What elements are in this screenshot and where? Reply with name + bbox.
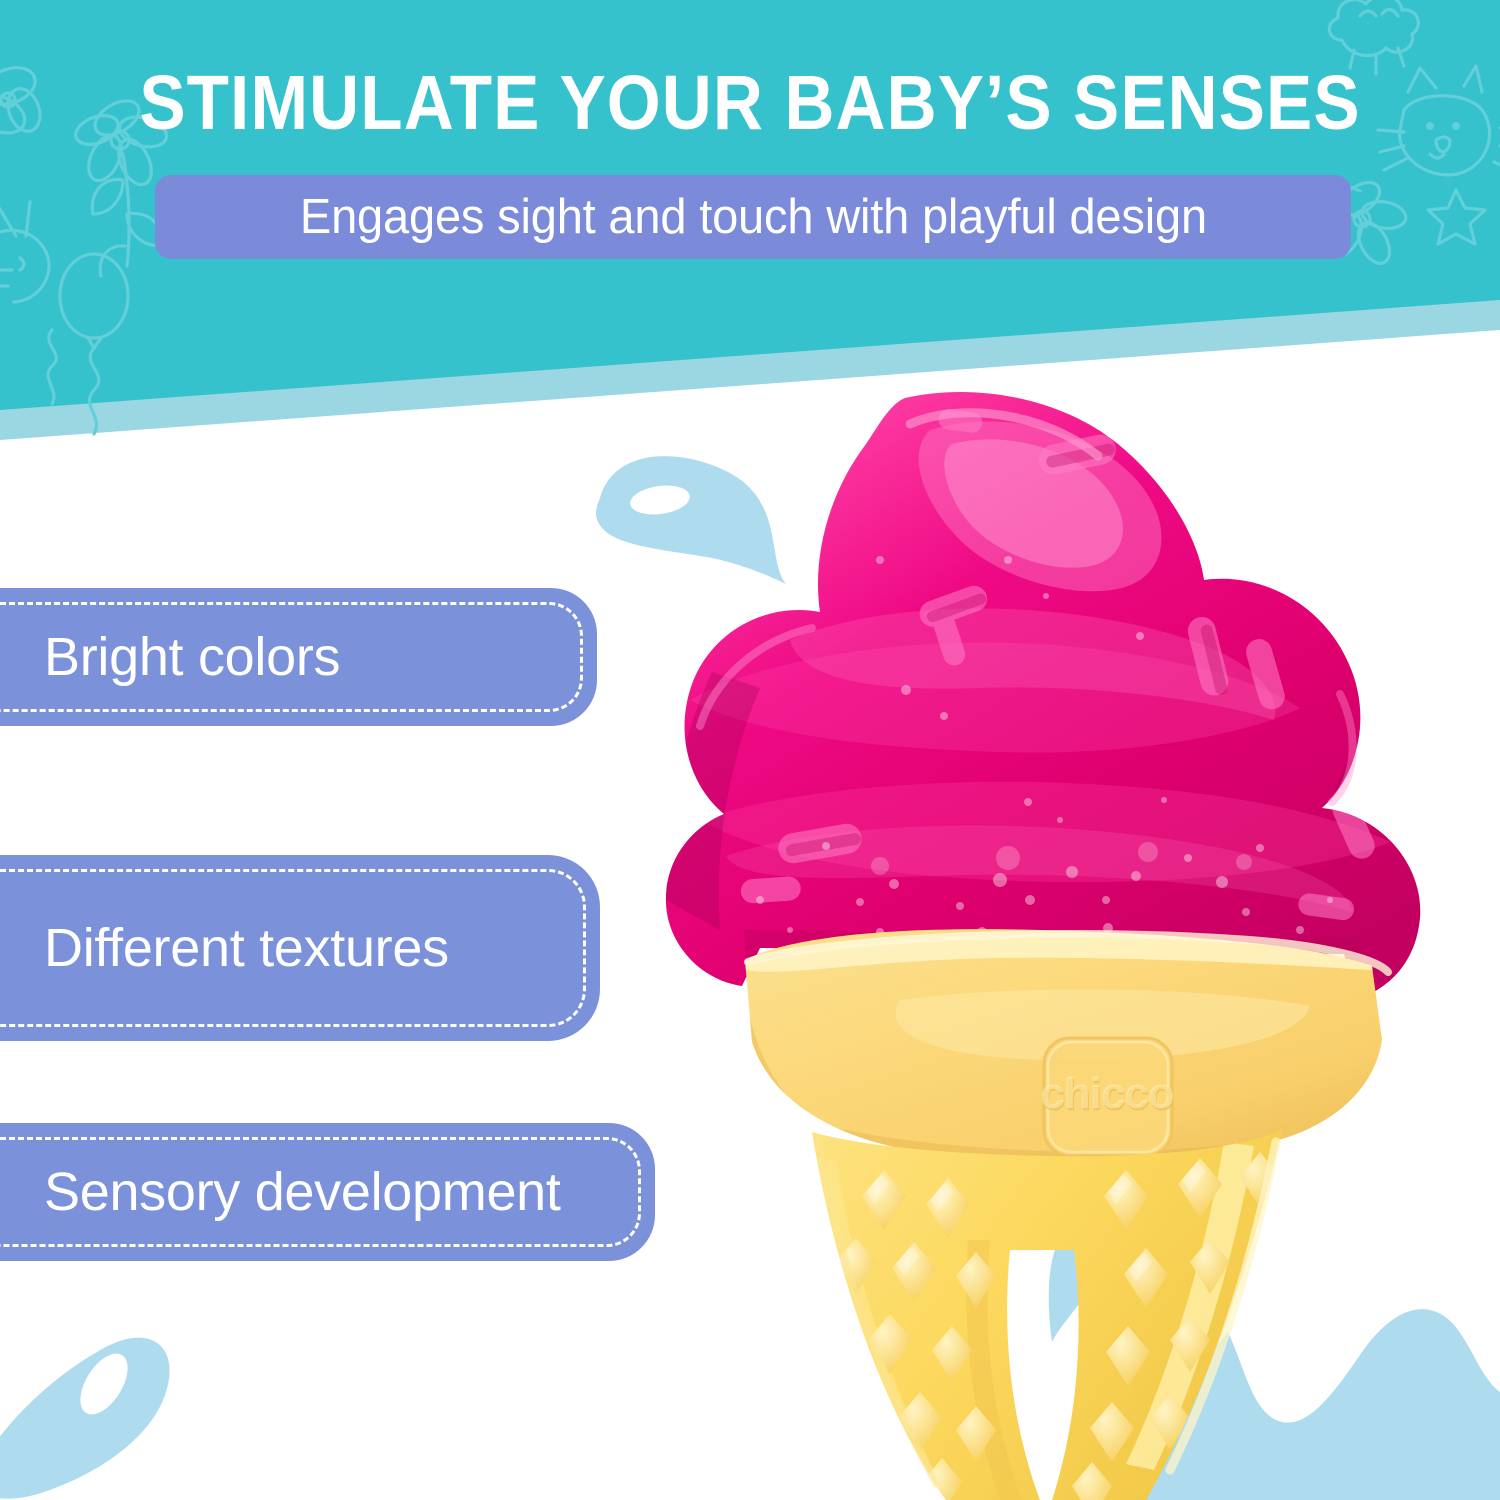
feature-pill-bright-colors[interactable]: Bright colors xyxy=(0,588,597,726)
poster-canvas: STIMULATE YOUR BABY’S SENSES Engages sig… xyxy=(0,0,1500,1500)
teether-handle xyxy=(808,1130,1296,1500)
product-image-ice-cream-teether: chicco chicco xyxy=(0,0,1500,1500)
feature-pill-label: Bright colors xyxy=(0,628,340,686)
gel-swirl-top xyxy=(665,392,1432,1000)
feature-pill-label: Sensory development xyxy=(0,1163,561,1221)
feature-pill-label: Different textures xyxy=(0,919,449,977)
svg-text:chicco: chicco xyxy=(1040,1069,1174,1118)
feature-pill-different-textures[interactable]: Different textures xyxy=(0,855,600,1041)
feature-pill-sensory-development[interactable]: Sensory development xyxy=(0,1123,655,1261)
